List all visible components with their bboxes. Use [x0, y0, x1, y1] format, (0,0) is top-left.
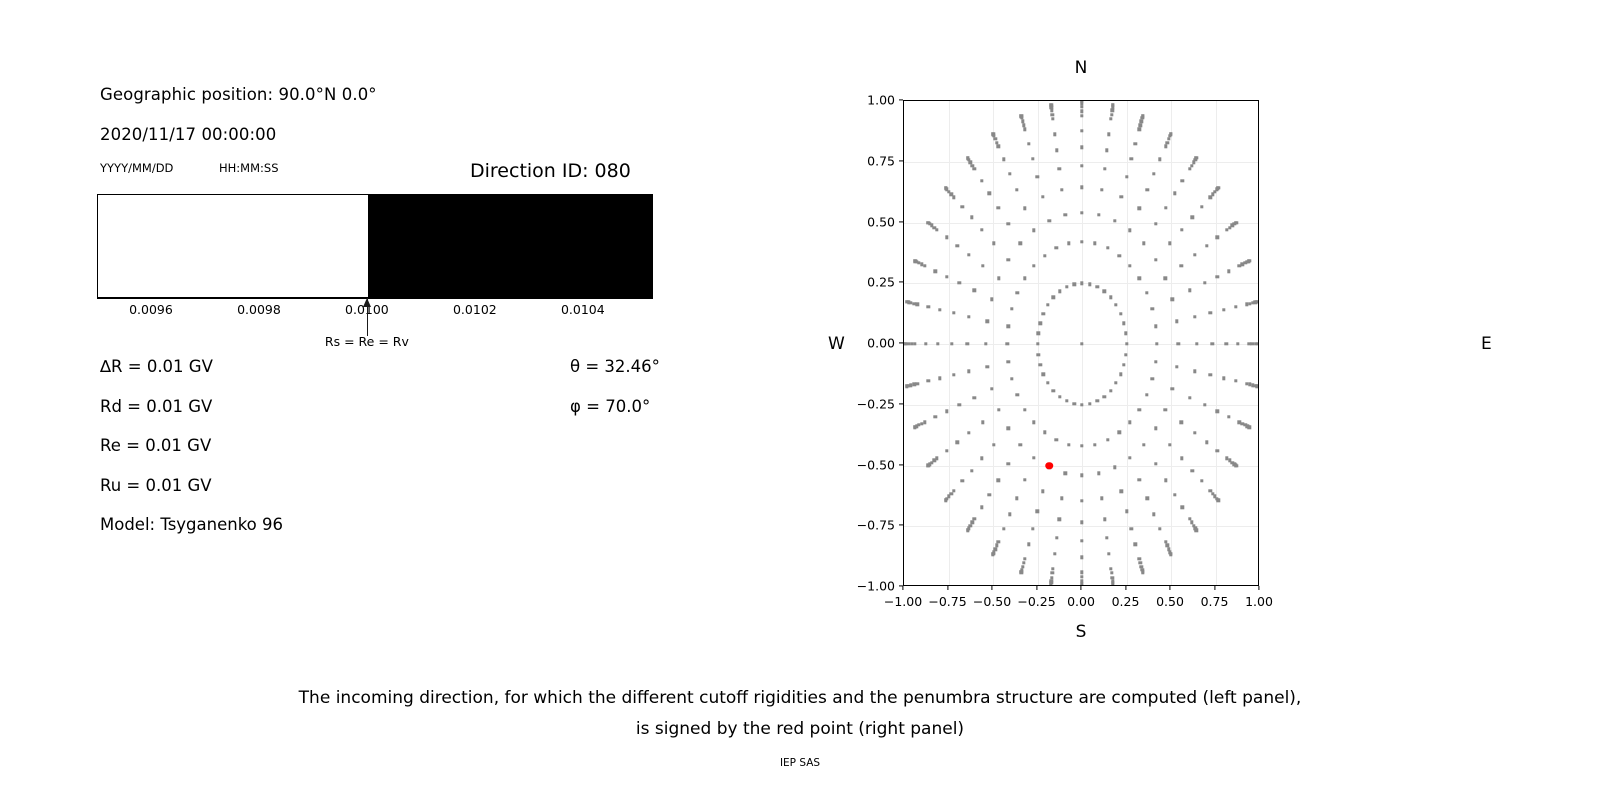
parameter-row: Re = 0.01 GV [100, 436, 211, 455]
y-axis-tick-label: 0.25 [845, 275, 895, 290]
direction-dot [1064, 213, 1067, 216]
direction-dot [938, 308, 941, 311]
direction-dot [1165, 141, 1168, 144]
direction-dot [1041, 195, 1044, 198]
direction-dot [1167, 137, 1170, 140]
direction-dot [958, 281, 961, 284]
direction-dot [1023, 277, 1026, 280]
direction-dot [1111, 579, 1114, 582]
direction-dot [1222, 308, 1225, 311]
time-format-hint: HH:MM:SS [219, 161, 279, 175]
direction-dot [1142, 443, 1145, 446]
direction-dot [1055, 148, 1058, 151]
direction-dot [972, 396, 975, 399]
direction-dot [1145, 393, 1148, 396]
y-axis-tickmark [899, 221, 903, 222]
direction-dot [971, 164, 974, 167]
direction-dot [1058, 518, 1061, 521]
direction-dot [1042, 312, 1045, 315]
direction-dot [1103, 167, 1106, 170]
direction-dot [1065, 285, 1068, 288]
direction-dot [950, 193, 953, 196]
direction-dot [1031, 527, 1034, 530]
direction-dot [955, 441, 958, 444]
direction-dot [1118, 254, 1121, 257]
y-axis-tick-label: −0.50 [845, 457, 895, 472]
direction-dot [967, 315, 970, 318]
direction-dot [1180, 457, 1183, 460]
direction-dot [1124, 353, 1127, 356]
direction-dot [1027, 543, 1030, 546]
rigidity-arrow-label: Rs = Re = Rv [325, 334, 409, 349]
left-panel: Geographic position: 90.0°N 0.0° 2020/11… [0, 0, 800, 660]
direction-dot [1248, 302, 1251, 305]
direction-dot [965, 342, 968, 345]
direction-dot [923, 420, 926, 423]
direction-id-label: Direction ID: 080 [470, 160, 631, 182]
direction-dot [1215, 449, 1218, 452]
direction-dot [1122, 363, 1125, 366]
direction-dot [1164, 144, 1167, 147]
direction-dot [1080, 474, 1083, 477]
direction-dot [961, 205, 964, 208]
direction-dot [1055, 246, 1058, 249]
direction-dot [1119, 312, 1122, 315]
direction-dot [1023, 408, 1026, 411]
direction-dot [1007, 360, 1010, 363]
direction-dot [988, 192, 991, 195]
direction-dot [1140, 565, 1143, 568]
direction-dot [1114, 303, 1117, 306]
direction-dot [1109, 117, 1112, 120]
y-axis-tick-label: −1.00 [845, 579, 895, 594]
direction-dot [1138, 478, 1141, 481]
direction-dot [1050, 579, 1053, 582]
direction-dot [992, 443, 995, 446]
direction-dot [967, 370, 970, 373]
direction-dot [1080, 145, 1083, 148]
direction-dot [1036, 342, 1039, 345]
direction-dot [916, 382, 919, 385]
direction-dot [1032, 229, 1035, 232]
direction-dot [1154, 325, 1157, 328]
direction-dot [1152, 513, 1155, 516]
direction-dot [1227, 269, 1230, 272]
direction-dot [1105, 148, 1108, 151]
direction-dot [1110, 571, 1113, 574]
direction-dot [969, 524, 972, 527]
direction-dot [997, 408, 1000, 411]
direction-dot [1146, 188, 1149, 191]
polar-scatter-plot [903, 100, 1259, 586]
direction-dot [1110, 109, 1113, 112]
direction-dot [1058, 167, 1061, 170]
direction-dot [1080, 110, 1083, 113]
direction-dot [1228, 226, 1231, 229]
direction-dot [1055, 536, 1058, 539]
direction-dot [1165, 544, 1168, 547]
direction-dot [1128, 264, 1131, 267]
direction-dot [1118, 431, 1121, 434]
direction-dot [913, 342, 916, 345]
direction-dot [1050, 576, 1053, 579]
direction-dot [1019, 443, 1022, 446]
direction-dot [1106, 438, 1109, 441]
penumbra-tick-label: 0.0104 [561, 302, 605, 317]
parameter-row: φ = 70.0° [570, 397, 650, 416]
direction-dot [920, 422, 923, 425]
direction-dot [1031, 157, 1034, 160]
direction-dot [1007, 325, 1010, 328]
direction-dot [1006, 222, 1009, 225]
direction-dot [1244, 423, 1247, 426]
direction-dot [1124, 332, 1127, 335]
direction-dot [1125, 175, 1128, 178]
direction-dot [981, 421, 984, 424]
footer-credit: IEP SAS [0, 757, 1600, 769]
direction-dot [1036, 332, 1039, 335]
direction-dot [1067, 443, 1070, 446]
direction-dot [997, 277, 1000, 280]
direction-dot [1180, 421, 1183, 424]
direction-map-panel: −1.00−0.75−0.50−0.250.000.250.500.751.00… [800, 0, 1600, 660]
direction-dot [912, 302, 915, 305]
direction-dot [996, 206, 999, 209]
direction-dot [1010, 307, 1013, 310]
direction-dot [1205, 244, 1208, 247]
direction-dot [1073, 282, 1076, 285]
direction-dot [1106, 246, 1109, 249]
direction-dot [1036, 353, 1039, 356]
direction-dot [1200, 479, 1203, 482]
direction-dot [916, 303, 919, 306]
direction-dot [1080, 575, 1083, 578]
direction-dot [1211, 193, 1214, 196]
direction-dot [1193, 315, 1196, 318]
x-axis-tickmark [1036, 586, 1037, 590]
direction-dot [1080, 282, 1083, 285]
direction-dot [1073, 402, 1076, 405]
direction-dot [1067, 242, 1070, 245]
x-axis-tickmark [1080, 586, 1081, 590]
direction-dot [1100, 497, 1103, 500]
direction-dot [1128, 456, 1131, 459]
direction-dot [1088, 282, 1091, 285]
direction-dot [1155, 342, 1158, 345]
direction-dot [1105, 536, 1108, 539]
direction-dot [1032, 420, 1035, 423]
direction-dot [1195, 342, 1198, 345]
direction-dot [1080, 240, 1083, 243]
parameter-row: Ru = 0.01 GV [100, 476, 212, 495]
direction-dot [1175, 365, 1178, 368]
direction-dot [988, 493, 991, 496]
parameter-row: Rd = 0.01 GV [100, 397, 212, 416]
direction-dot [1038, 363, 1041, 366]
y-axis-tickmark [899, 525, 903, 526]
direction-dot [1158, 527, 1161, 530]
direction-dot [1138, 128, 1141, 131]
y-axis-tick-label: 1.00 [845, 93, 895, 108]
direction-dot [1167, 548, 1170, 551]
direction-dot [910, 342, 913, 345]
direction-dot [1188, 167, 1191, 170]
direction-dot [1154, 222, 1157, 225]
direction-dot [1254, 342, 1257, 345]
direction-dot [967, 431, 970, 434]
direction-dot [1007, 427, 1010, 430]
direction-dot [1190, 164, 1193, 167]
direction-dot [1164, 408, 1167, 411]
direction-dot [1047, 219, 1050, 222]
y-axis-tickmark [899, 342, 903, 343]
gridline-vertical [993, 101, 994, 585]
direction-dot [1051, 117, 1054, 120]
direction-dot [1036, 510, 1039, 513]
direction-dot [1120, 490, 1123, 493]
direction-dot [912, 383, 915, 386]
direction-dot [1188, 396, 1191, 399]
direction-dot [1052, 296, 1055, 299]
direction-dot [1038, 322, 1041, 325]
direction-dot [1051, 113, 1054, 116]
direction-dot [1134, 543, 1137, 546]
gridline-vertical [1216, 101, 1217, 585]
direction-dot [1113, 466, 1116, 469]
gridline-horizontal [904, 466, 1258, 467]
direction-dot [1022, 561, 1025, 564]
direction-dot [1093, 242, 1096, 245]
direction-dot [1080, 186, 1083, 189]
direction-dot [1096, 285, 1099, 288]
direction-dot [920, 263, 923, 266]
compass-label-north: N [1075, 58, 1088, 78]
direction-dot [1060, 497, 1063, 500]
direction-dot [1032, 456, 1035, 459]
direction-dot [1019, 242, 1022, 245]
direction-dot [1216, 275, 1219, 278]
direction-dot [945, 410, 948, 413]
direction-dot [1164, 277, 1167, 280]
geographic-position-label: Geographic position: 90.0°N 0.0° [100, 85, 377, 104]
direction-dot [1180, 264, 1183, 267]
direction-dot [986, 365, 989, 368]
gridline-horizontal [904, 526, 1258, 527]
direction-dot [1209, 373, 1212, 376]
direction-dot [1065, 399, 1068, 402]
direction-dot [1015, 188, 1018, 191]
direction-dot [1051, 571, 1054, 574]
direction-dot [1027, 142, 1030, 145]
direction-dot [993, 137, 996, 140]
direction-dot [1128, 420, 1131, 423]
direction-dot [1188, 289, 1191, 292]
direction-dot [1103, 395, 1106, 398]
direction-dot [1107, 552, 1110, 555]
direction-dot [1122, 322, 1125, 325]
direction-dot [1224, 342, 1227, 345]
direction-dot [1154, 462, 1157, 465]
direction-dot [1203, 403, 1206, 406]
direction-dot [996, 479, 999, 482]
direction-dot [992, 242, 995, 245]
direction-dot [1222, 376, 1225, 379]
direction-dot [1016, 393, 1019, 396]
direction-dot [981, 264, 984, 267]
parameter-row: Model: Tsyganenko 96 [100, 515, 283, 534]
direction-dot [927, 379, 930, 382]
direction-dot [1058, 290, 1061, 293]
direction-dot [1234, 305, 1237, 308]
direction-dot [1023, 478, 1026, 481]
direction-dot [1080, 444, 1083, 447]
direction-dot [1181, 506, 1184, 509]
direction-dot [980, 506, 983, 509]
direction-dot [993, 548, 996, 551]
direction-dot [1211, 492, 1214, 495]
direction-dot [1181, 179, 1184, 182]
direction-dot [1130, 527, 1133, 530]
direction-dot [1058, 395, 1061, 398]
direction-dot [1151, 307, 1154, 310]
direction-dot [1080, 129, 1083, 132]
direction-dot [1251, 383, 1254, 386]
direction-dot [1080, 571, 1083, 574]
direction-dot [1200, 205, 1203, 208]
direction-dot [1251, 342, 1254, 345]
direction-dot [952, 373, 955, 376]
compass-label-east: E [1481, 334, 1492, 354]
direction-dot [936, 342, 939, 345]
direction-dot [1193, 431, 1196, 434]
x-axis-tick-label: 1.00 [1245, 594, 1273, 609]
direction-dot [1080, 499, 1083, 502]
rigidity-arrow-icon [367, 298, 368, 336]
direction-dot [1258, 342, 1259, 345]
direction-dot [1010, 377, 1013, 380]
direction-dot [970, 469, 973, 472]
direction-dot [1016, 291, 1019, 294]
y-axis-tick-label: 0.50 [845, 214, 895, 229]
direction-dot [1138, 557, 1141, 560]
direction-dot [1164, 479, 1167, 482]
direction-dot [1007, 258, 1010, 261]
direction-dot [1080, 342, 1083, 345]
direction-dot [1168, 443, 1171, 446]
direction-dot [1103, 518, 1106, 521]
direction-dot [1134, 142, 1137, 145]
direction-dot [1088, 402, 1091, 405]
direction-dot [1041, 490, 1044, 493]
direction-dot [1080, 164, 1083, 167]
x-axis-tickmark [991, 586, 992, 590]
direction-dot [972, 289, 975, 292]
direction-dot [1173, 192, 1176, 195]
direction-dot [1244, 261, 1247, 264]
direction-dot [1145, 291, 1148, 294]
y-axis-tickmark [899, 99, 903, 100]
direction-dot [1080, 211, 1083, 214]
direction-dot [1215, 236, 1218, 239]
direction-dot [1130, 157, 1133, 160]
direction-dot [1154, 360, 1157, 363]
x-axis-tickmark [902, 586, 903, 590]
compass-label-south: S [1076, 622, 1087, 642]
penumbra-chart: 0.00960.00980.01000.01020.0104 Rs = Re =… [97, 194, 653, 298]
direction-dot [1110, 113, 1113, 116]
penumbra-tick-label: 0.0102 [453, 302, 497, 317]
direction-dot [958, 403, 961, 406]
direction-dot [1021, 565, 1024, 568]
direction-dot [1053, 132, 1056, 135]
direction-dot [984, 342, 987, 345]
direction-dot [1050, 109, 1053, 112]
direction-dot [1142, 242, 1145, 245]
direction-dot [1053, 552, 1056, 555]
direction-dot [1211, 342, 1214, 345]
direction-dot [1114, 381, 1117, 384]
direction-dot [1138, 277, 1141, 280]
direction-dot [990, 387, 993, 390]
direction-dot [1141, 568, 1144, 571]
direction-dot [1240, 263, 1243, 266]
direction-dot [980, 228, 983, 231]
direction-dot [1152, 172, 1155, 175]
direction-dot [1080, 520, 1083, 523]
direction-dot [1110, 576, 1113, 579]
direction-dot [1146, 497, 1149, 500]
y-axis-tickmark [899, 403, 903, 404]
direction-dot [1008, 172, 1011, 175]
direction-dot [961, 479, 964, 482]
x-axis-tickmark [1169, 586, 1170, 590]
direction-dot [1119, 373, 1122, 376]
direction-dot [1138, 408, 1141, 411]
direction-dot [1213, 495, 1216, 498]
x-axis-tickmark [1125, 586, 1126, 590]
x-axis-tick-label: −1.00 [884, 594, 922, 609]
direction-dot [955, 244, 958, 247]
direction-dot [1120, 195, 1123, 198]
direction-dot [938, 376, 941, 379]
direction-dot [1103, 290, 1106, 293]
direction-dot [1002, 527, 1005, 530]
direction-dot [1006, 342, 1009, 345]
direction-dot [1093, 443, 1096, 446]
direction-dot [1020, 568, 1023, 571]
direction-dot [1022, 124, 1025, 127]
direction-dot [1158, 158, 1161, 161]
direction-dot [945, 275, 948, 278]
direction-dot [933, 459, 936, 462]
direction-dot [1140, 119, 1143, 122]
direction-dot [1080, 555, 1083, 558]
direction-dot [1046, 381, 1049, 384]
direction-dot [973, 167, 976, 170]
direction-dot [933, 226, 936, 229]
selected-direction-marker[interactable] [1045, 462, 1053, 470]
direction-dot [1193, 253, 1196, 256]
x-axis-tick-label: 0.00 [1067, 594, 1095, 609]
gridline-vertical [1171, 101, 1172, 585]
direction-dot [950, 342, 953, 345]
direction-dot [1055, 438, 1058, 441]
y-axis-tickmark [899, 282, 903, 283]
direction-dot [1138, 207, 1141, 210]
direction-dot [1191, 469, 1194, 472]
x-axis-tick-label: 0.75 [1201, 594, 1229, 609]
direction-dot [934, 415, 937, 418]
